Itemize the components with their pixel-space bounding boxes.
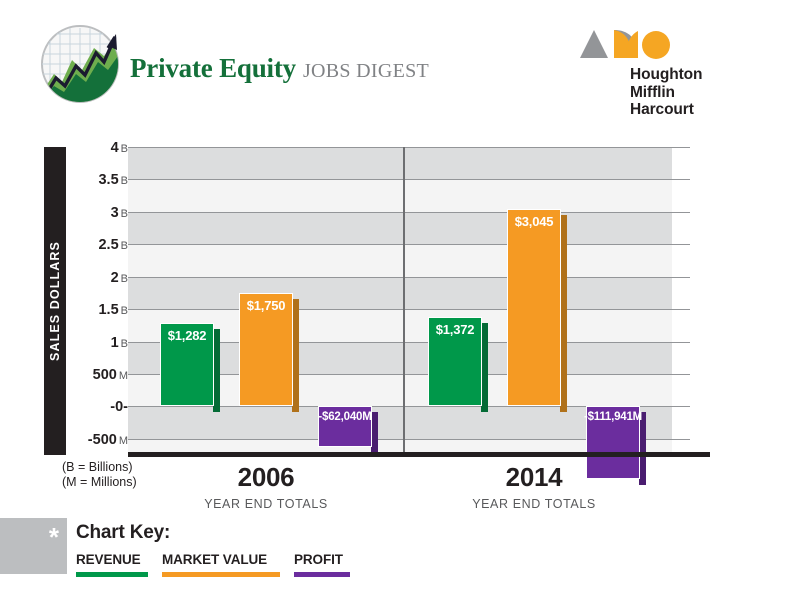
plot-band (128, 147, 672, 179)
y-axis-tick-labels: 4B3.5B3B2.5B2B1.5B1B500M-0--500M (66, 142, 128, 462)
y-tick-4000: 4B (111, 140, 128, 156)
gridline-1500 (128, 309, 690, 310)
bar-value-label: $1,372 (428, 322, 482, 337)
bar-2014-revenue[interactable]: $1,372 (428, 317, 482, 406)
y-tick-2500: 2.5B (98, 237, 128, 253)
key-item-label: PROFIT (294, 552, 350, 567)
y-tick-unit: B (121, 143, 128, 155)
brand-primary: Private Equity (130, 53, 296, 83)
y-tick-value: 3 (111, 205, 119, 221)
masthead: Private EquityJOBS DIGEST Houghton Miffl… (0, 0, 792, 132)
key-item-profit[interactable]: PROFIT (294, 552, 350, 577)
chart-key-title: Chart Key: (76, 522, 170, 544)
y-tick-1500: 1.5B (98, 302, 128, 318)
y-tick-unit: B (121, 338, 128, 350)
plot-band (128, 179, 672, 211)
bar-shadow (213, 329, 220, 412)
plot-band (128, 244, 672, 276)
y-tick-0: -0- (110, 399, 128, 415)
key-item-label: REVENUE (76, 552, 148, 567)
publisher-name-line1: Houghton (630, 66, 710, 84)
y-tick-unit: B (121, 273, 128, 285)
line-chart-circle-logo (38, 22, 122, 106)
y-tick-unit: B (121, 175, 128, 187)
hmh-triangle-leaf-circle-logo (580, 28, 676, 60)
footnote-billions: (B = Billions) (62, 460, 137, 475)
footnote-millions: (M = Millions) (62, 475, 137, 490)
y-tick-3500: 3.5B (98, 172, 128, 188)
y-tick-unit: M (119, 370, 128, 382)
brand-secondary: JOBS DIGEST (303, 60, 429, 82)
bar-chart: SALES DOLLARS 4B3.5B3B2.5B2B1.5B1B500M-0… (0, 132, 792, 522)
bar-shadow (560, 215, 567, 412)
bar-2014-market-value[interactable]: $3,045 (507, 209, 561, 406)
key-item-market-value[interactable]: MARKET VALUE (162, 552, 280, 577)
y-tick--500: -500M (88, 432, 128, 448)
key-item-swatch (76, 572, 148, 577)
y-tick-value: 1.5 (98, 302, 118, 318)
y-tick-3000: 3B (111, 205, 128, 221)
chart-key: * Chart Key: REVENUEMARKET VALUEPROFIT (0, 518, 792, 612)
bar-value-label: $1,282 (160, 328, 214, 343)
asterisk-badge: * (0, 518, 67, 574)
y-tick-unit: B (121, 305, 128, 317)
gridline-4000 (128, 147, 690, 148)
plot-area: $1,282$1,750-$62,040M$1,372$3,045-$111,9… (128, 147, 672, 455)
bar-2006-profit[interactable]: -$62,040M (318, 406, 372, 446)
y-tick-unit: B (121, 240, 128, 252)
key-item-label: MARKET VALUE (162, 552, 280, 567)
group-sublabel: YEAR END TOTALS (444, 497, 624, 511)
group-sublabel: YEAR END TOTALS (176, 497, 356, 511)
y-tick-value: 2 (111, 270, 119, 286)
bar-shadow (292, 299, 299, 412)
plot-band (128, 277, 672, 309)
y-tick-value: -0- (110, 399, 128, 415)
y-tick-value: 500 (93, 367, 117, 383)
y-tick-2000: 2B (111, 270, 128, 286)
y-axis-title: SALES DOLLARS (44, 147, 66, 455)
y-tick-500: 500M (93, 367, 128, 383)
gridline-3500 (128, 179, 690, 180)
bar-fill (507, 209, 561, 406)
y-tick-unit: B (121, 208, 128, 220)
y-tick-value: 4 (111, 140, 119, 156)
bar-value-label: -$111,941M (576, 411, 650, 423)
unit-footnote: (B = Billions) (M = Millions) (62, 460, 137, 490)
group-year: 2014 (444, 462, 624, 493)
bar-value-label: $3,045 (507, 214, 561, 229)
publisher-name-line2: Mifflin (630, 84, 710, 102)
y-tick-value: -500 (88, 432, 117, 448)
plot-band (128, 212, 672, 244)
page-title: Private EquityJOBS DIGEST (130, 53, 429, 84)
asterisk-icon: * (49, 524, 59, 550)
bar-value-label: $1,750 (239, 298, 293, 313)
group-label-2006: 2006YEAR END TOTALS (176, 462, 356, 511)
x-axis-line (128, 452, 710, 457)
publisher-name-line3: Harcourt (630, 101, 710, 119)
y-axis-title-label: SALES DOLLARS (48, 241, 62, 361)
group-year: 2006 (176, 462, 356, 493)
bar-2006-revenue[interactable]: $1,282 (160, 323, 214, 406)
y-tick-unit: M (119, 435, 128, 447)
gridline-3000 (128, 212, 690, 213)
key-item-swatch (294, 572, 350, 577)
key-item-revenue[interactable]: REVENUE (76, 552, 148, 577)
bar-2006-market-value[interactable]: $1,750 (239, 293, 293, 406)
y-tick-1000: 1B (111, 335, 128, 351)
bar-value-label: -$62,040M (308, 411, 382, 423)
key-item-swatch (162, 572, 280, 577)
y-tick-value: 2.5 (98, 237, 118, 253)
y-tick-value: 3.5 (98, 172, 118, 188)
gridline-2500 (128, 244, 690, 245)
y-tick-value: 1 (111, 335, 119, 351)
publisher-name: Houghton Mifflin Harcourt (630, 66, 710, 119)
bar-shadow (481, 323, 488, 412)
group-label-2014: 2014YEAR END TOTALS (444, 462, 624, 511)
group-divider (403, 147, 405, 455)
gridline-2000 (128, 277, 690, 278)
publisher-logo: Houghton Mifflin Harcourt (578, 28, 710, 124)
